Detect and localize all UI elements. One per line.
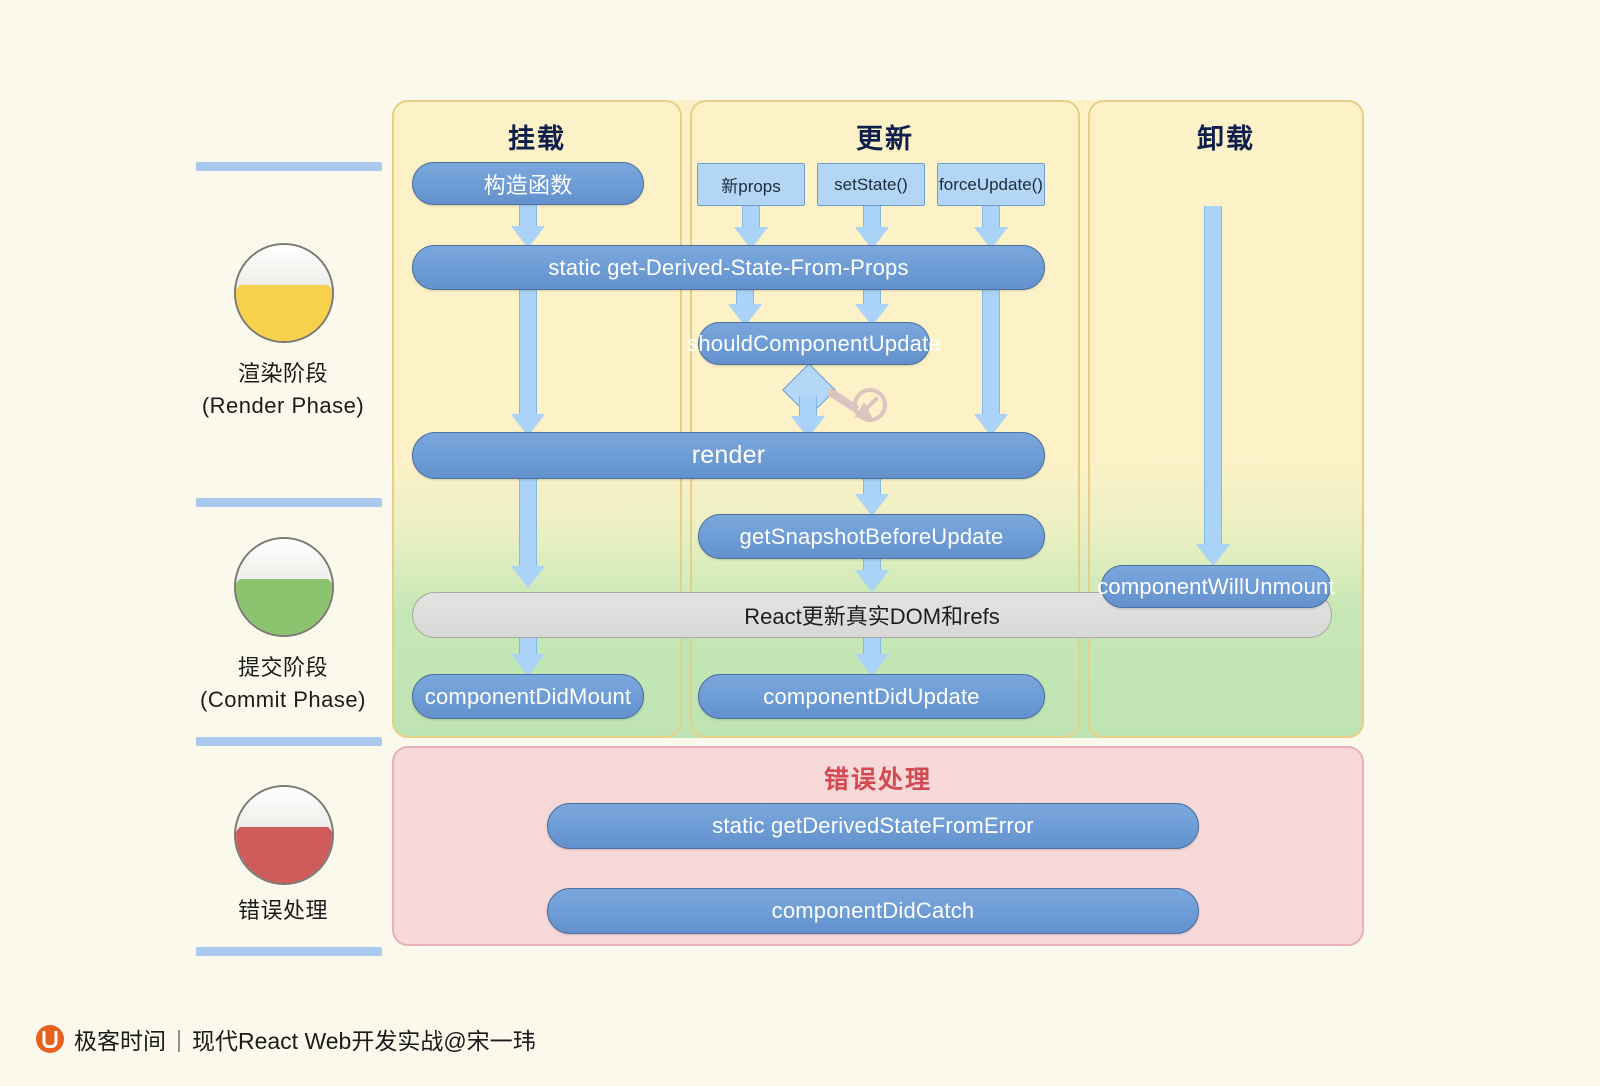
node-get-derived-state-from-props[interactable]: static get-Derived-State-From-Props — [412, 245, 1045, 290]
node-constructor[interactable]: 构造函数 — [412, 162, 644, 205]
footer-brand: 极客时间 — [74, 1022, 166, 1056]
footer-separator: | — [176, 1026, 182, 1053]
node-component-did-mount[interactable]: componentDidMount — [412, 674, 644, 719]
arrow-render-to-dom-mount — [510, 478, 546, 588]
arrow-gdsfp-to-scu-left — [727, 288, 763, 326]
render-phase-label-cn: 渲染阶段 — [133, 358, 433, 390]
arrow-gdsfp-to-render-mount — [510, 288, 546, 436]
rail-divider-bottom — [196, 947, 382, 956]
column-title-unmount: 卸载 — [1090, 117, 1362, 156]
rail-divider-middle — [196, 498, 382, 507]
no-entry-icon — [853, 388, 887, 422]
column-title-update: 更新 — [692, 117, 1078, 156]
node-get-snapshot-before-update[interactable]: getSnapshotBeforeUpdate — [698, 514, 1045, 559]
arrow-dom-to-componentdidmount — [510, 638, 546, 676]
arrow-unmount-to-componentwillunmount — [1195, 206, 1231, 566]
arrow-gdsfp-to-scu-right — [854, 288, 890, 326]
arrow-setstate-to-gdsfp — [854, 205, 890, 249]
rail-divider-lower — [196, 737, 382, 746]
error-phase-label: 错误处理 — [133, 895, 433, 927]
arrow-gdsfp-to-render-bypass — [973, 288, 1009, 436]
footer-course: 现代React Web开发实战@宋一玮 — [192, 1022, 536, 1056]
node-component-did-update[interactable]: componentDidUpdate — [698, 674, 1045, 719]
error-section-title: 错误处理 — [394, 760, 1362, 796]
arrow-constructor-to-gdsfp — [510, 203, 546, 248]
commit-phase-label-en: (Commit Phase) — [133, 684, 433, 716]
footer: 极客时间 | 现代React Web开发实战@宋一玮 — [36, 1022, 536, 1056]
arrow-render-to-getsnapshot — [854, 478, 890, 516]
error-phase-label-cn: 错误处理 — [133, 895, 433, 927]
arrow-forceupdate-to-gdsfp — [973, 205, 1009, 249]
geek-time-logo-icon — [36, 1025, 64, 1053]
node-component-did-catch[interactable]: componentDidCatch — [547, 888, 1199, 934]
node-get-derived-state-from-error[interactable]: static getDerivedStateFromError — [547, 803, 1199, 849]
render-phase-label: 渲染阶段 (Render Phase) — [133, 358, 433, 422]
rail-divider-top — [196, 162, 382, 171]
lifecycle-diagram: 渲染阶段 (Render Phase) 提交阶段 (Commit Phase) … — [0, 0, 1600, 1086]
node-component-will-unmount[interactable]: componentWillUnmount — [1101, 565, 1331, 608]
trigger-set-state[interactable]: setState() — [817, 163, 925, 206]
node-should-component-update[interactable]: shouldComponentUpdate — [698, 322, 930, 365]
commit-phase-label-cn: 提交阶段 — [133, 652, 433, 684]
arrow-dom-to-componentdidupdate — [854, 638, 890, 676]
arrow-getsnapshot-to-dom — [854, 558, 890, 592]
trigger-new-props[interactable]: 新props — [697, 163, 805, 206]
error-phase-circle-icon — [234, 785, 334, 885]
node-render[interactable]: render — [412, 432, 1045, 479]
render-phase-label-en: (Render Phase) — [133, 390, 433, 422]
trigger-force-update[interactable]: forceUpdate() — [937, 163, 1045, 206]
commit-phase-circle-icon — [234, 537, 334, 637]
column-title-mount: 挂载 — [394, 117, 680, 156]
arrow-newprops-to-gdsfp — [733, 205, 769, 249]
render-phase-circle-icon — [234, 243, 334, 343]
commit-phase-label: 提交阶段 (Commit Phase) — [133, 652, 433, 716]
